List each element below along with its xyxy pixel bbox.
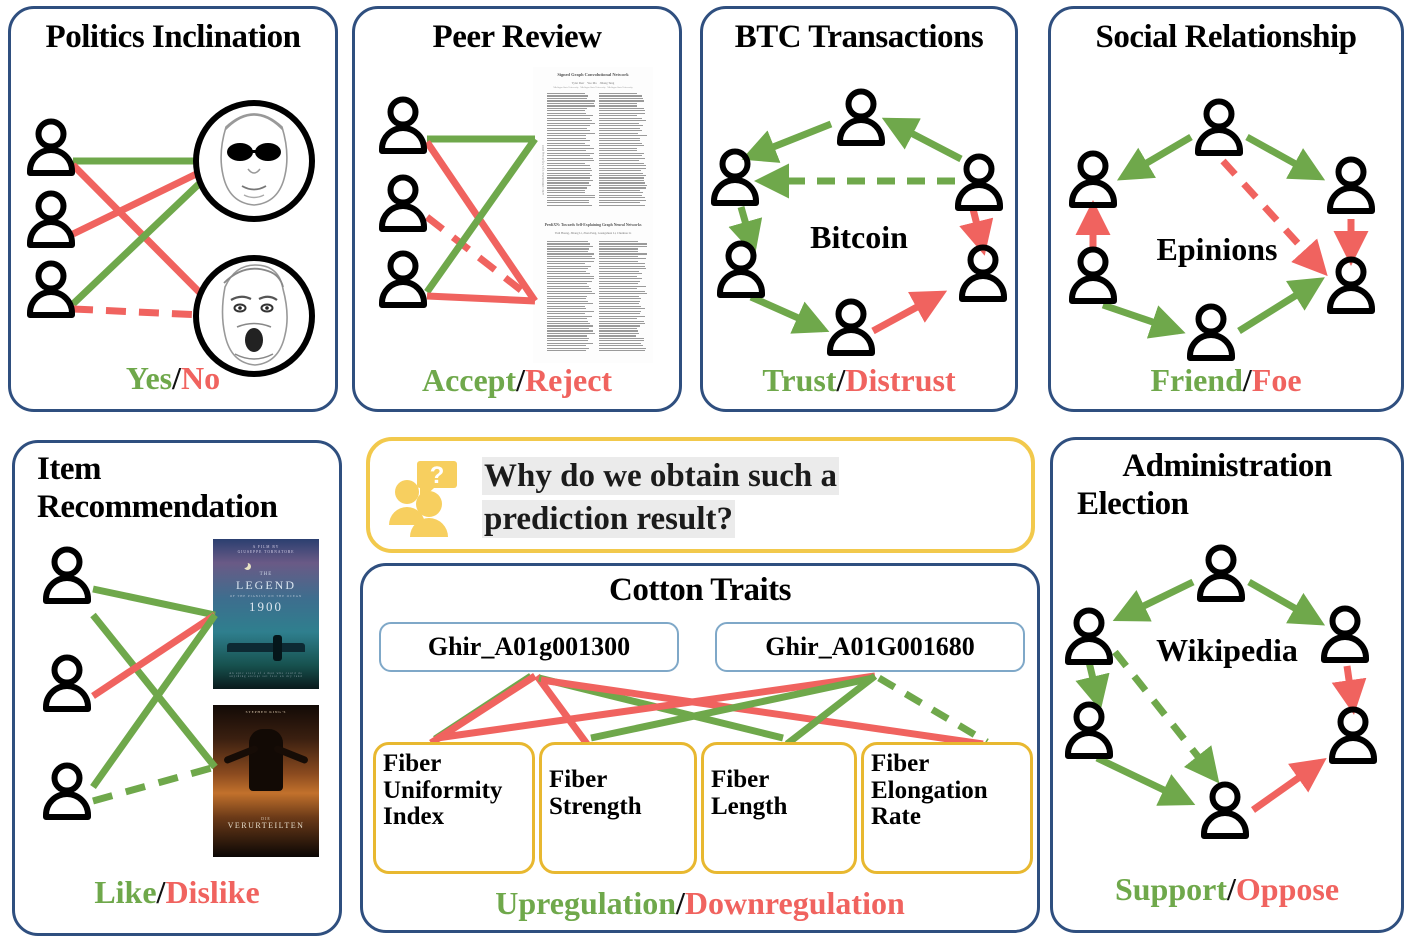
btc-node-top <box>840 92 882 144</box>
edge-leftlow-to-bottom-trust <box>751 297 823 329</box>
peer-review-graph <box>355 9 685 415</box>
social-node-right-up <box>1330 160 1372 212</box>
peer-review-separator: / <box>516 362 525 398</box>
politician-sunglasses-avatar <box>196 103 312 219</box>
edge-bottom-to-rightlow-distrust <box>873 294 941 331</box>
politics-separator: / <box>172 360 181 396</box>
social-positive-label: Friend <box>1150 362 1242 398</box>
edge-reviewer2-to-paper-bottom-negative-dashed <box>427 217 535 301</box>
social-separator: / <box>1243 362 1252 398</box>
question-line-2: prediction result? <box>482 500 735 538</box>
svg-text:?: ? <box>430 462 445 489</box>
social-node-left-up <box>1072 154 1114 206</box>
trait-box-2[interactable]: Fiber Strength <box>539 742 697 874</box>
edge-user1-to-movie1-like <box>93 589 215 615</box>
btc-positive-label: Trust <box>762 362 836 398</box>
btc-node-bottom <box>830 302 872 354</box>
question-line-1: Why do we obtain such a <box>482 457 839 495</box>
question-text: Why do we obtain such a prediction resul… <box>482 455 839 541</box>
panel-item-recommendation: Item Recommendation A FILM BY GIUSEPPE T… <box>12 440 342 936</box>
edge-user3-to-movie2-like-dashed <box>93 767 215 801</box>
btc-legend: Trust/Distrust <box>703 362 1015 399</box>
admin-separator: / <box>1227 871 1236 907</box>
social-center-word: Epinions <box>1093 231 1341 268</box>
politics-graph <box>11 9 341 415</box>
politics-negative-label: No <box>181 360 220 396</box>
admin-graph <box>1053 440 1407 936</box>
social-negative-label: Foe <box>1252 362 1302 398</box>
cotton-separator: / <box>676 885 685 921</box>
peer-review-positive-label: Accept <box>422 362 516 398</box>
admin-center-word: Wikipedia <box>1099 632 1355 669</box>
politics-positive-label: Yes <box>126 360 172 396</box>
social-node-top <box>1198 102 1240 154</box>
item-rec-user-1 <box>46 550 88 602</box>
cotton-legend: Upregulation/Downregulation <box>363 885 1037 922</box>
cotton-negative-label: Downregulation <box>685 885 905 921</box>
admin-node-right-low <box>1332 710 1374 762</box>
edge-leftup-to-bottom-support-dashed <box>1115 652 1215 778</box>
social-graph <box>1051 9 1407 415</box>
politics-legend: Yes/No <box>11 360 335 397</box>
btc-node-left-up <box>714 152 756 204</box>
edge-rightup-to-top-trust <box>888 121 961 159</box>
trait-box-4[interactable]: Fiber Elongation Rate <box>861 742 1033 874</box>
item-rec-graph <box>15 443 345 939</box>
trait-label-4: Fiber Elongation Rate <box>871 751 1023 831</box>
social-legend: Friend/Foe <box>1051 362 1401 399</box>
panel-politics-inclination: Politics Inclination <box>8 6 338 412</box>
item-rec-legend: Like/Dislike <box>15 874 339 911</box>
panel-btc-transactions: BTC Transactions Bitcoin Trust/Distrust <box>700 6 1018 412</box>
edge-bottom-to-rightlow-friend <box>1239 281 1319 331</box>
edge-top-to-leftup-support <box>1119 582 1193 618</box>
item-rec-user-3 <box>46 766 88 818</box>
admin-node-top <box>1200 548 1242 600</box>
admin-positive-label: Support <box>1115 871 1227 907</box>
item-rec-positive-label: Like <box>94 874 156 910</box>
btc-node-right-up <box>958 157 1000 209</box>
item-rec-negative-label: Dislike <box>165 874 259 910</box>
panel-social-relationship: Social Relationship Epinions Friend/Foe <box>1048 6 1404 412</box>
question-callout: ? Why do we obtain such a prediction res… <box>366 437 1035 553</box>
trait-label-3: Fiber Length <box>711 767 847 820</box>
admin-node-bottom <box>1204 785 1246 837</box>
trait-label-2: Fiber Strength <box>549 767 687 820</box>
admin-negative-label: Oppose <box>1236 871 1339 907</box>
trait-box-3[interactable]: Fiber Length <box>701 742 857 874</box>
peer-review-legend: Accept/Reject <box>355 362 679 399</box>
people-question-icon: ? <box>384 459 462 537</box>
panel-peer-review: Peer Review Signed Graph Convolutional N… <box>352 6 682 412</box>
edge-rightup-to-rightlow-oppose <box>1347 666 1353 708</box>
peer-review-negative-label: Reject <box>525 362 612 398</box>
trait-box-1[interactable]: Fiber Uniformity Index <box>373 742 535 874</box>
social-node-bottom <box>1190 307 1232 359</box>
btc-negative-label: Distrust <box>845 362 955 398</box>
trait-label-1: Fiber Uniformity Index <box>383 751 525 831</box>
btc-graph <box>703 9 1021 415</box>
edge-top-to-leftup-friend <box>1123 137 1191 177</box>
edge-leftlow-to-bottom-friend <box>1103 305 1179 331</box>
edge-user2-to-movie1-dislike <box>93 615 215 696</box>
edge-bottom-to-rightlow-oppose <box>1253 762 1321 810</box>
edge-top-to-leftup-trust <box>748 124 831 157</box>
edge-leftup-to-leftlow-support <box>1089 662 1099 704</box>
panel-administration-election: Administration Election Wikipedia Suppor… <box>1050 437 1404 933</box>
cotton-positive-label: Upregulation <box>495 885 676 921</box>
panel-cotton-traits: Cotton Traits Ghir_A01g001300 Ghir_A01G0… <box>360 563 1040 933</box>
admin-node-left-low <box>1068 705 1110 757</box>
item-rec-user-2 <box>46 658 88 710</box>
edge-top-to-rightup-support <box>1249 582 1319 622</box>
politician-shouting-avatar <box>196 258 312 374</box>
edge-reviewer3-to-paper-bottom-negative <box>427 296 535 301</box>
edge-top-to-rightup-friend <box>1247 137 1319 177</box>
btc-center-word: Bitcoin <box>703 219 1015 256</box>
edge-leftlow-to-bottom-support <box>1097 758 1189 802</box>
admin-legend: Support/Oppose <box>1053 871 1401 908</box>
